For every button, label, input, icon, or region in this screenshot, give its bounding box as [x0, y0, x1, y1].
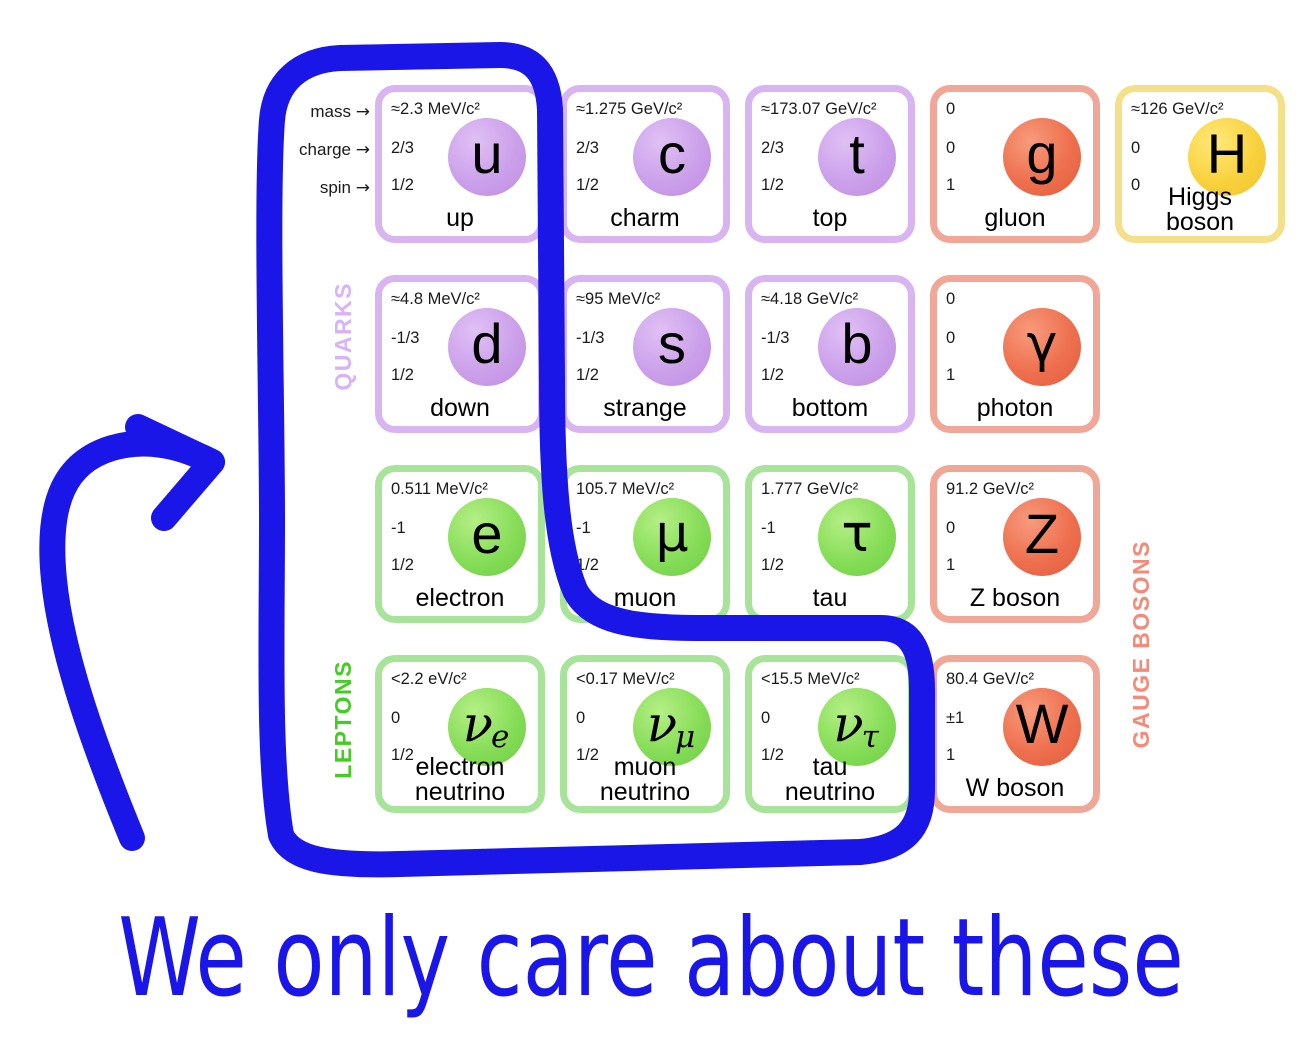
- particle-mass: 0: [946, 291, 955, 308]
- legend-label-charge: charge: [299, 140, 351, 159]
- particle-symbol: t: [849, 126, 865, 182]
- particle-mass: ≈4.8 MeV/c²: [391, 291, 480, 308]
- particle-disc: d: [448, 308, 526, 386]
- particle-symbol: μ: [655, 508, 688, 560]
- particle-name: Z boson: [937, 586, 1093, 611]
- particle-cell-electron: 0.511 MeV/c²-11/2eelectron: [375, 465, 545, 623]
- diagram-canvas: mass → charge → spin → ≈2.3 MeV/c²2/31/2…: [0, 0, 1302, 1042]
- particle-disc: s: [633, 308, 711, 386]
- particle-cell-tau: 1.777 GeV/c²-11/2τtau: [745, 465, 915, 623]
- particle-name: top: [752, 206, 908, 231]
- particle-cell-top: ≈173.07 GeV/c²2/31/2ttop: [745, 85, 915, 243]
- particle-cell-w-boson: 80.4 GeV/c²±11WW boson: [930, 655, 1100, 813]
- particle-disc: u: [448, 118, 526, 196]
- particle-cell-gluon: 001ggluon: [930, 85, 1100, 243]
- particle-symbol: s: [658, 316, 686, 372]
- category-label-quarks: QUARKS: [330, 282, 357, 391]
- particle-name: strange: [567, 396, 723, 421]
- particle-name: electron: [382, 586, 538, 611]
- particle-mass: ≈1.275 GeV/c²: [576, 101, 682, 118]
- particle-name: muonneutrino: [567, 755, 723, 804]
- particle-disc: e: [448, 498, 526, 576]
- particle-mass: 0: [946, 101, 955, 118]
- particle-name: Higgsboson: [1122, 185, 1278, 234]
- category-label-leptons: LEPTONS: [330, 660, 357, 779]
- annotation-arrow-stem: [52, 444, 212, 838]
- arrow-right-icon: →: [356, 178, 370, 198]
- particle-symbol: c: [658, 126, 686, 182]
- particle-spin: 1: [946, 367, 955, 384]
- particle-name: tauneutrino: [752, 755, 908, 804]
- annotation-caption: We only care about these: [91, 905, 1211, 1013]
- particle-symbol-subscript: e: [491, 719, 509, 755]
- particle-disc: τ: [818, 498, 896, 576]
- particle-mass: 91.2 GeV/c²: [946, 481, 1034, 498]
- legend-label-spin: spin: [320, 178, 351, 197]
- particle-mass: ≈126 GeV/c²: [1131, 101, 1224, 118]
- arrow-right-icon: →: [356, 140, 370, 160]
- particle-cell-tau-neutrino: <15.5 MeV/c²01/2ντtauneutrino: [745, 655, 915, 813]
- particle-name: photon: [937, 396, 1093, 421]
- particle-symbol: γ: [1027, 318, 1058, 370]
- arrow-right-icon: →: [356, 102, 370, 122]
- particle-symbol: νe: [463, 699, 512, 749]
- particle-stats: 001: [946, 291, 955, 405]
- particle-disc: μ: [633, 498, 711, 576]
- particle-disc: b: [818, 308, 896, 386]
- particle-symbol: g: [1026, 126, 1057, 182]
- particle-mass: ≈173.07 GeV/c²: [761, 101, 876, 118]
- particle-name: bottom: [752, 396, 908, 421]
- particle-name: gluon: [937, 206, 1093, 231]
- particle-mass: 1.777 GeV/c²: [761, 481, 858, 498]
- particle-symbol-subscript: μ: [675, 719, 695, 755]
- particle-mass: <15.5 MeV/c²: [761, 671, 860, 688]
- particle-name: W boson: [937, 776, 1093, 801]
- particle-disc: t: [818, 118, 896, 196]
- particle-symbol: νμ: [647, 699, 698, 749]
- particle-mass: <2.2 eV/c²: [391, 671, 467, 688]
- legend-row-charge: charge →: [290, 140, 370, 160]
- particle-mass: ≈95 MeV/c²: [576, 291, 660, 308]
- particle-cell-up: ≈2.3 MeV/c²2/31/2uup: [375, 85, 545, 243]
- particle-symbol: Z: [1025, 506, 1059, 562]
- particle-name: charm: [567, 206, 723, 231]
- particle-name: electronneutrino: [382, 755, 538, 804]
- particle-cell-muon: 105.7 MeV/c²-11/2μmuon: [560, 465, 730, 623]
- particle-mass: ≈2.3 MeV/c²: [391, 101, 480, 118]
- particle-cell-down: ≈4.8 MeV/c²-1/31/2ddown: [375, 275, 545, 433]
- particle-disc: g: [1003, 118, 1081, 196]
- particle-stats: 001: [946, 101, 955, 215]
- particle-cell-electron-neutrino: <2.2 eV/c²01/2νeelectronneutrino: [375, 655, 545, 813]
- particle-name: tau: [752, 586, 908, 611]
- particle-symbol: e: [471, 506, 502, 562]
- particle-disc: W: [1003, 688, 1081, 766]
- particle-cell-strange: ≈95 MeV/c²-1/31/2sstrange: [560, 275, 730, 433]
- particle-cell-muon-neutrino: <0.17 MeV/c²01/2νμmuonneutrino: [560, 655, 730, 813]
- particle-symbol: W: [1016, 696, 1069, 752]
- particle-cell-z-boson: 91.2 GeV/c²01ZZ boson: [930, 465, 1100, 623]
- particle-symbol: H: [1207, 126, 1247, 182]
- particle-symbol: b: [841, 316, 872, 372]
- particle-symbol: τ: [841, 508, 872, 560]
- legend-label-mass: mass: [310, 102, 351, 121]
- legend-row-mass: mass →: [300, 102, 370, 122]
- annotation-arrow-head: [138, 427, 212, 518]
- particle-name: muon: [567, 586, 723, 611]
- particle-mass: ≈4.18 GeV/c²: [761, 291, 858, 308]
- particle-cell-photon: 001γphoton: [930, 275, 1100, 433]
- particle-disc: γ: [1003, 308, 1081, 386]
- particle-symbol: ντ: [833, 699, 881, 749]
- particle-charge: 0: [946, 330, 955, 347]
- particle-name: up: [382, 206, 538, 231]
- particle-mass: 105.7 MeV/c²: [576, 481, 674, 498]
- particle-disc: Z: [1003, 498, 1081, 576]
- particle-symbol-subscript: τ: [862, 719, 879, 755]
- particle-disc: c: [633, 118, 711, 196]
- particle-cell-higgs: ≈126 GeV/c²00HHiggsboson: [1115, 85, 1285, 243]
- particle-charge: 0: [946, 140, 955, 157]
- particle-spin: 1: [946, 177, 955, 194]
- particle-symbol: u: [471, 126, 502, 182]
- particle-name: down: [382, 396, 538, 421]
- particle-mass: 0.511 MeV/c²: [391, 481, 488, 498]
- particle-cell-charm: ≈1.275 GeV/c²2/31/2ccharm: [560, 85, 730, 243]
- legend-row-spin: spin →: [300, 178, 370, 198]
- particle-cell-bottom: ≈4.18 GeV/c²-1/31/2bbottom: [745, 275, 915, 433]
- particle-mass: 80.4 GeV/c²: [946, 671, 1034, 688]
- category-label-gauge-bosons: GAUGE BOSONS: [1128, 540, 1155, 748]
- particle-symbol: d: [471, 316, 502, 372]
- particle-mass: <0.17 MeV/c²: [576, 671, 675, 688]
